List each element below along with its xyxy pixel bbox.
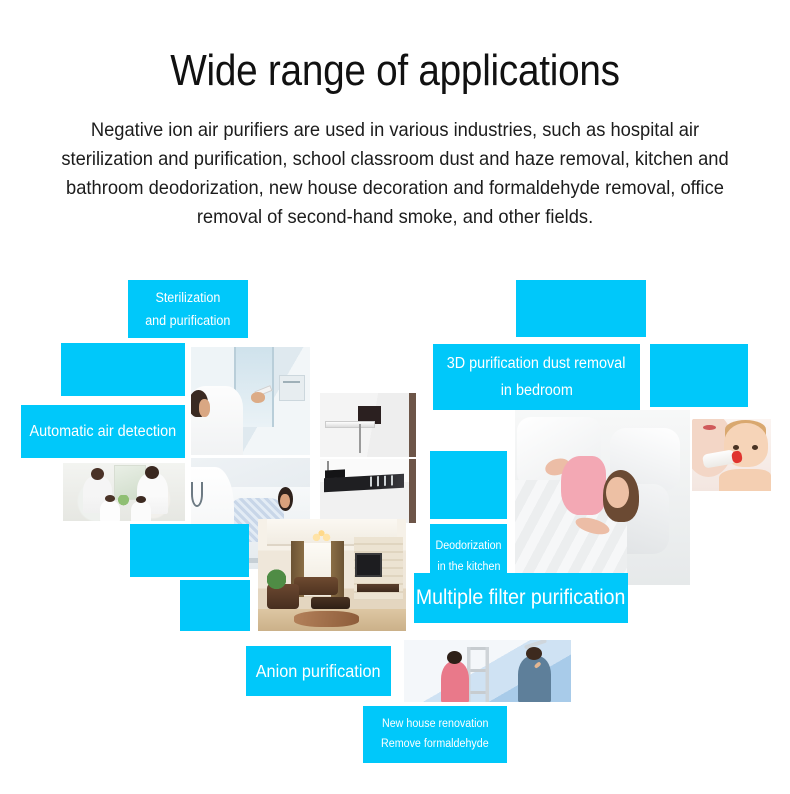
living-room-interior-photo <box>258 519 406 631</box>
caption-new-house-renovation-remove-formaldehyde[interactable]: New house renovation Remove formaldehyde <box>363 706 507 763</box>
caption-line-2: Remove formaldehyde <box>381 738 489 751</box>
caption-multiple-filter-purification[interactable]: Multiple filter purification <box>414 573 628 623</box>
family-in-kitchen-photo <box>63 463 185 521</box>
caption-line-1: Automatic air detection <box>30 423 177 440</box>
decorative-blue-block-mid-left <box>130 524 249 577</box>
caption-line-2: and purification <box>145 313 230 328</box>
application-poster: Wide range of applications Negative ion … <box>0 0 790 794</box>
caption-automatic-air-detection[interactable]: Automatic air detection <box>21 405 185 458</box>
caption-line-1: Deodorization <box>435 540 501 553</box>
page-subtitle: Negative ion air purifiers are used in v… <box>24 98 767 232</box>
decorative-blue-block-top-right <box>516 280 646 337</box>
decorative-blue-block-lower-left <box>180 580 250 631</box>
doctor-with-syringe-photo <box>191 347 310 455</box>
kitchen-range-hood-photo <box>320 393 416 523</box>
page-title: Wide range of applications <box>47 0 742 98</box>
caption-sterilization-and-purification[interactable]: Sterilization and purification <box>128 280 248 338</box>
caption-3d-purification-dust-removal-in-bedroom[interactable]: 3D purification dust removal in bedroom <box>433 344 640 410</box>
caption-line-1: Sterilization <box>156 290 221 305</box>
caption-line-1: Multiple filter purification <box>416 586 625 610</box>
header: Wide range of applications Negative ion … <box>0 0 790 232</box>
decorative-blue-block-right <box>650 344 748 407</box>
caption-line-2: in bedroom <box>500 382 572 399</box>
decorative-blue-block-upper-left <box>61 343 185 396</box>
caption-line-1: Anion purification <box>256 661 381 681</box>
woman-sleeping-in-bed-photo <box>515 410 690 585</box>
caption-line-1: New house renovation <box>382 718 488 731</box>
applications-collage: Sterilization and purification <box>0 258 790 794</box>
decorative-blue-block-above-deodorization <box>430 451 507 519</box>
mother-feeding-baby-photo <box>692 419 771 491</box>
couple-painting-wall-photo <box>404 640 571 702</box>
caption-line-2: in the kitchen <box>437 561 500 574</box>
caption-line-1: 3D purification dust removal <box>447 355 626 372</box>
caption-anion-purification[interactable]: Anion purification <box>246 646 391 696</box>
